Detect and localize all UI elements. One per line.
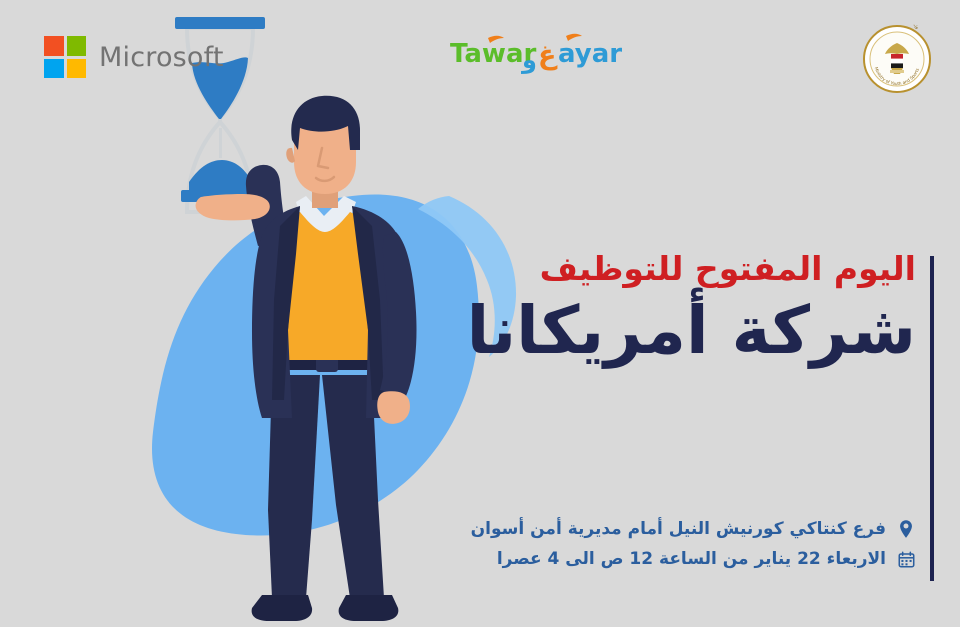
microsoft-squares-icon [44, 36, 86, 78]
left-shoe [252, 595, 312, 621]
microsoft-wordmark: Microsoft [99, 42, 224, 73]
tawar-gayar-logo: Tawar و غ ayar [448, 30, 628, 76]
brand-part-two: ayar [558, 39, 622, 69]
headline-title: شركة أمريكانا [446, 292, 916, 370]
right-shoe [339, 595, 399, 621]
yellow-square [67, 59, 87, 79]
ear [286, 148, 295, 163]
date-text: الاربعاء 22 يناير من الساعة 12 ص الى 4 ع… [497, 549, 886, 569]
calendar-icon [896, 547, 916, 571]
location-pin-icon [896, 517, 916, 541]
brand-arabic-glyph: غ [538, 40, 558, 71]
ministry-seal: وزارة الشباب والرياضة Ministry of Youth … [862, 24, 932, 94]
brand-connector-glyph: و [521, 46, 537, 74]
hourglass-sand-stream [219, 128, 222, 158]
location-row: فرع كنتاكي كورنيش النيل أمام مديرية أمن … [496, 514, 916, 544]
holding-hand [196, 194, 270, 220]
date-row: الاربعاء 22 يناير من الساعة 12 ص الى 4 ع… [496, 544, 916, 574]
microsoft-logo: Microsoft [44, 36, 224, 78]
location-text: فرع كنتاكي كورنيش النيل أمام مديرية أمن … [471, 519, 886, 539]
headline-block: اليوم المفتوح للتوظيف شركة أمريكانا [446, 250, 916, 370]
recruitment-poster: Microsoft Tawar و غ ayar وزارة الشباب وا… [0, 0, 960, 627]
red-square [44, 36, 64, 56]
headline-kicker: اليوم المفتوح للتوظيف [446, 250, 916, 288]
accent-vertical-rule [930, 256, 934, 581]
event-info-block: فرع كنتاكي كورنيش النيل أمام مديرية أمن … [496, 514, 916, 574]
blue-square [44, 59, 64, 79]
hourglass-top-bar [175, 17, 265, 29]
green-square [67, 36, 87, 56]
